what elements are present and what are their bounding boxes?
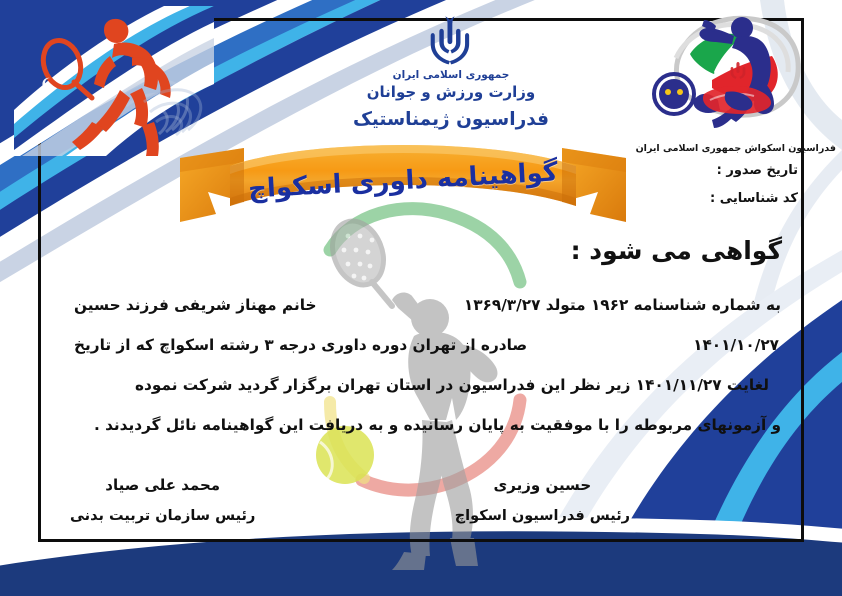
signature-name-0: حسین وزیری <box>455 476 630 494</box>
body-line-3-right: لغایت ۱۴۰۱/۱۱/۲۷ زیر نظر این فدراسیون در… <box>135 378 769 393</box>
certificate-meta-fields: تاریخ صدور : کد شناسایی : <box>648 163 798 219</box>
iran-emblem-icon <box>423 14 479 66</box>
signature-name-1: محمد علی صیاد <box>70 476 255 494</box>
signature-sports-org-head: محمد علی صیاد رئیس سازمان تربیت بدنی <box>70 476 255 524</box>
ministry-line-2: وزارت ورزش و جوانان <box>321 83 581 101</box>
id-code-label: کد شناسایی : <box>648 191 798 206</box>
body-line-2: ۱۴۰۱/۱۰/۲۷ صادره از تهران دوره داوری درج… <box>60 326 787 366</box>
signature-title-0: رئیس فدراسیون اسکواچ <box>455 508 630 524</box>
signature-title-1: رئیس سازمان تربیت بدنی <box>70 508 255 524</box>
signature-block: حسین وزیری رئیس فدراسیون اسکواچ محمد علی… <box>70 476 630 524</box>
squash-player-orange-logo <box>14 6 214 156</box>
ministry-line-1: جمهوری اسلامی ایران <box>321 69 581 81</box>
body-line-3: لغایت ۱۴۰۱/۱۱/۲۷ زیر نظر این فدراسیون در… <box>60 366 787 406</box>
certificate-title-ribbon: گواهینامه داوری اسکواچ <box>178 136 628 232</box>
body-line-4: و آزمونهای مربوطه را با موفقیت به پایان … <box>60 406 787 446</box>
certificate-page: جمهوری اسلامی ایران وزارت ورزش و جوانان … <box>0 0 842 596</box>
squash-federation-logo: فدراسیون اسکواش جمهوری اسلامی ایران <box>640 6 836 156</box>
body-line-2-left: ۱۴۰۱/۱۰/۲۷ <box>693 338 779 353</box>
body-line-1-left: به شماره شناسنامه ۱۹۶۲ متولد ۱۳۶۹/۳/۲۷ <box>464 298 781 313</box>
body-line-1: به شماره شناسنامه ۱۹۶۲ متولد ۱۳۶۹/۳/۲۷ خ… <box>60 286 787 326</box>
federation-logo-caption: فدراسیون اسکواش جمهوری اسلامی ایران <box>640 143 836 154</box>
certificate-body: به شماره شناسنامه ۱۹۶۲ متولد ۱۳۶۹/۳/۲۷ خ… <box>60 286 787 446</box>
ministry-line-3: فدراسیون ژیمناستیک <box>321 109 581 130</box>
ministry-header-block: جمهوری اسلامی ایران وزارت ورزش و جوانان … <box>321 14 581 130</box>
body-line-4-right: و آزمونهای مربوطه را با موفقیت به پایان … <box>94 418 781 433</box>
body-line-2-right: صادره از تهران دوره داوری درجه ۳ رشته اس… <box>74 338 527 353</box>
certify-heading: گواهی می شود : <box>571 236 782 265</box>
issue-date-label: تاریخ صدور : <box>648 163 798 178</box>
signature-federation-head: حسین وزیری رئیس فدراسیون اسکواچ <box>455 476 630 524</box>
body-line-1-right: خانم مهناز شریفی فرزند حسین <box>74 298 316 313</box>
